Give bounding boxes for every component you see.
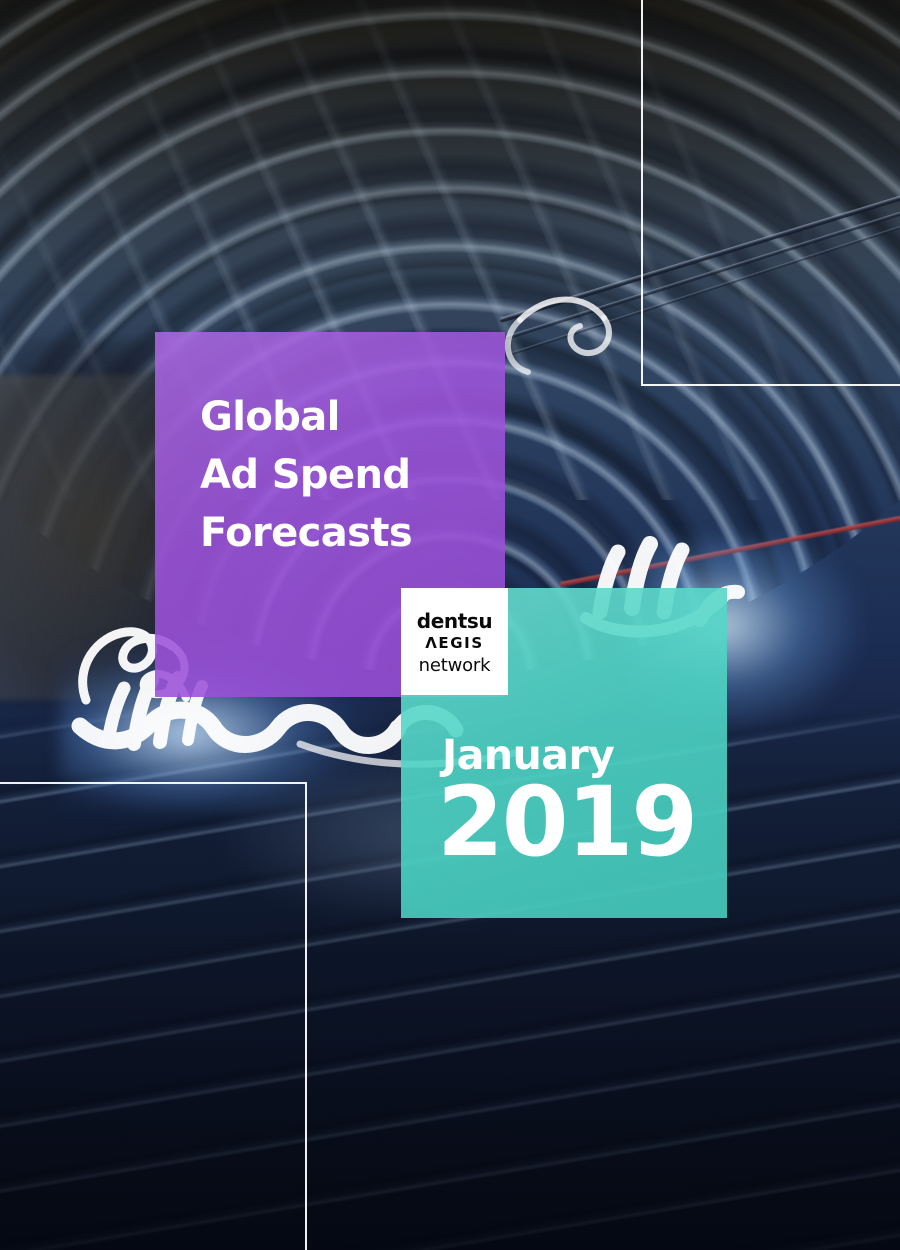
publication-year: 2019	[437, 770, 696, 874]
logo-wordmark-aegis: ΛEGIS	[425, 634, 484, 653]
corner-frame-bottom-left	[0, 782, 307, 1250]
page-title: Global Ad Spend Forecasts	[200, 388, 489, 562]
page-title-line-3: Forecasts	[200, 504, 489, 562]
logo-wordmark-dentsu: dentsu	[417, 610, 492, 632]
page-title-line-1: Global	[200, 388, 489, 446]
corner-frame-top-right	[641, 0, 900, 386]
page-title-line-2: Ad Spend	[200, 446, 489, 504]
dentsu-aegis-network-logo: dentsu ΛEGIS network	[401, 588, 508, 695]
logo-wordmark-network: network	[419, 655, 491, 676]
report-cover: Global Ad Spend Forecasts January 2019 d…	[0, 0, 900, 1250]
tunnel-end-wall	[0, 375, 162, 700]
